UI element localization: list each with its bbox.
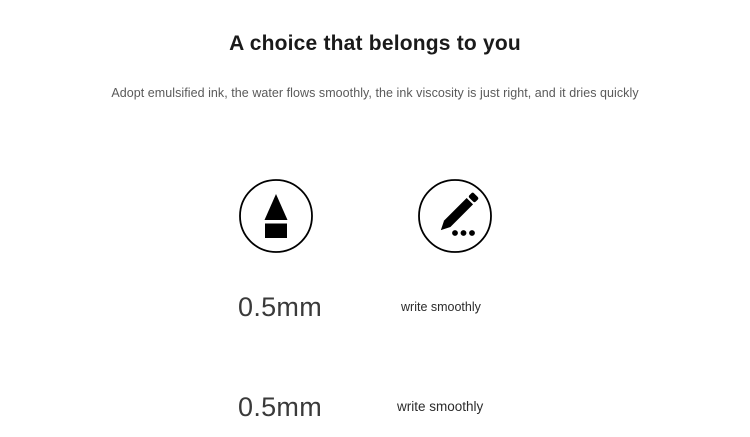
feature-grid: 0.5mm write smoothly 0.5mm write smoothl…: [238, 178, 568, 430]
page-title: A choice that belongs to you: [0, 0, 750, 58]
feature-icon-row: [238, 178, 568, 254]
pencil-writing-icon: [417, 178, 493, 254]
feature-size-label: 0.5mm: [238, 290, 322, 324]
feature-description-label: write smoothly: [401, 290, 481, 324]
feature-size-label: 0.5mm: [238, 390, 322, 424]
pen-tip-icon: [238, 178, 314, 254]
feature-icon-cell-pencil: [417, 178, 493, 254]
feature-caption-row: 0.5mm write smoothly: [238, 290, 568, 330]
page-header: A choice that belongs to you Adopt emuls…: [0, 0, 750, 102]
feature-icon-cell-pen-tip: [238, 178, 314, 254]
feature-caption-row: 0.5mm write smoothly: [238, 390, 568, 430]
page-subtitle: Adopt emulsified ink, the water flows sm…: [0, 58, 750, 102]
product-feature-page: A choice that belongs to you Adopt emuls…: [0, 0, 750, 437]
feature-description-label: write smoothly: [397, 390, 483, 424]
